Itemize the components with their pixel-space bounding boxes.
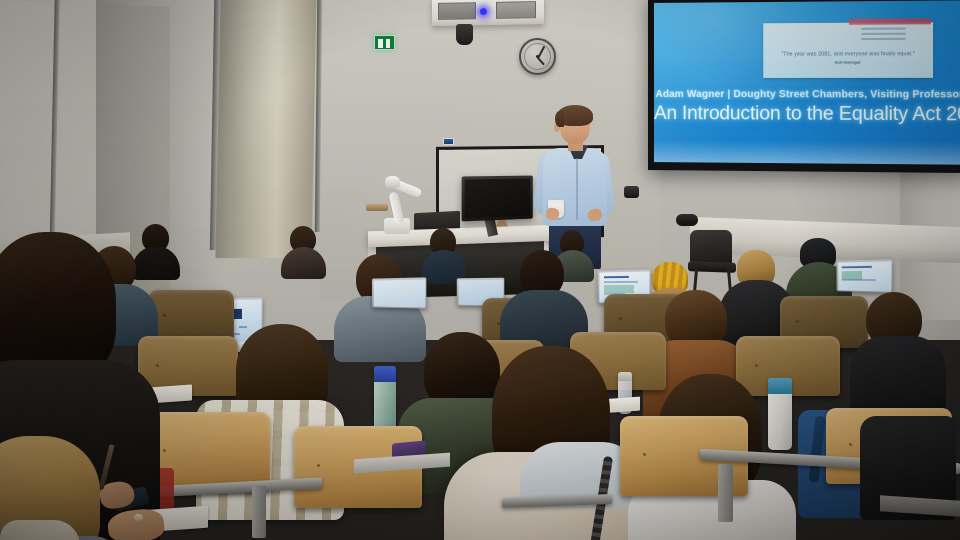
laptop-screen	[373, 279, 425, 307]
emergency-exit-sign	[374, 35, 395, 50]
slide-inset-card: "The year was 2081, and everyone was fin…	[764, 22, 933, 78]
seat-back	[148, 290, 234, 342]
clock-centre-pin	[536, 55, 539, 58]
slide-quote-attribution: Kurt Vonnegut	[770, 61, 926, 65]
laptop-screen	[838, 261, 891, 292]
bottle-cap	[374, 366, 396, 382]
seat-rail-post	[252, 486, 266, 538]
slide-quote-text: "The year was 2081, and everyone was fin…	[770, 51, 926, 58]
bottle-cap	[618, 372, 632, 381]
lectern-small-item	[366, 204, 388, 211]
wall-clock	[519, 38, 556, 75]
slide-subtitle: Adam Wagner | Doughty Street Chambers, V…	[654, 89, 960, 101]
slide-surface: "The year was 2081, and everyone was fin…	[654, 0, 960, 164]
clock-hour-hand	[537, 57, 545, 65]
torso	[132, 246, 180, 280]
blue-notice-sign	[443, 138, 454, 145]
presenter-hair	[557, 105, 593, 126]
laptop	[837, 259, 893, 293]
bottle-cap	[768, 378, 792, 394]
slide-card-accent-bar	[849, 18, 931, 25]
water-bottle-white	[768, 378, 792, 450]
lecture-theatre-photo: "The year was 2081, and everyone was fin…	[0, 0, 960, 540]
slide-card-text-lines	[861, 28, 905, 43]
ring	[134, 514, 143, 521]
slide-title: An Introduction to the Equality Act 2010	[654, 103, 960, 126]
clock-minute-hand	[537, 45, 545, 57]
torso	[281, 247, 326, 279]
wall-speaker	[624, 186, 639, 198]
seat-rail-post	[718, 464, 733, 522]
vent-grille-icon	[438, 2, 476, 20]
ceiling-projector-unit	[432, 0, 544, 26]
audience-area	[0, 220, 960, 540]
status-led-indicator	[480, 8, 487, 15]
visualiser-camera-head	[385, 176, 400, 188]
lectern-monitor	[462, 176, 533, 222]
vent-grille-icon	[496, 1, 536, 19]
laptop	[372, 277, 426, 308]
projection-screen: "The year was 2081, and everyone was fin…	[648, 0, 960, 173]
ceiling-speaker	[456, 24, 473, 45]
